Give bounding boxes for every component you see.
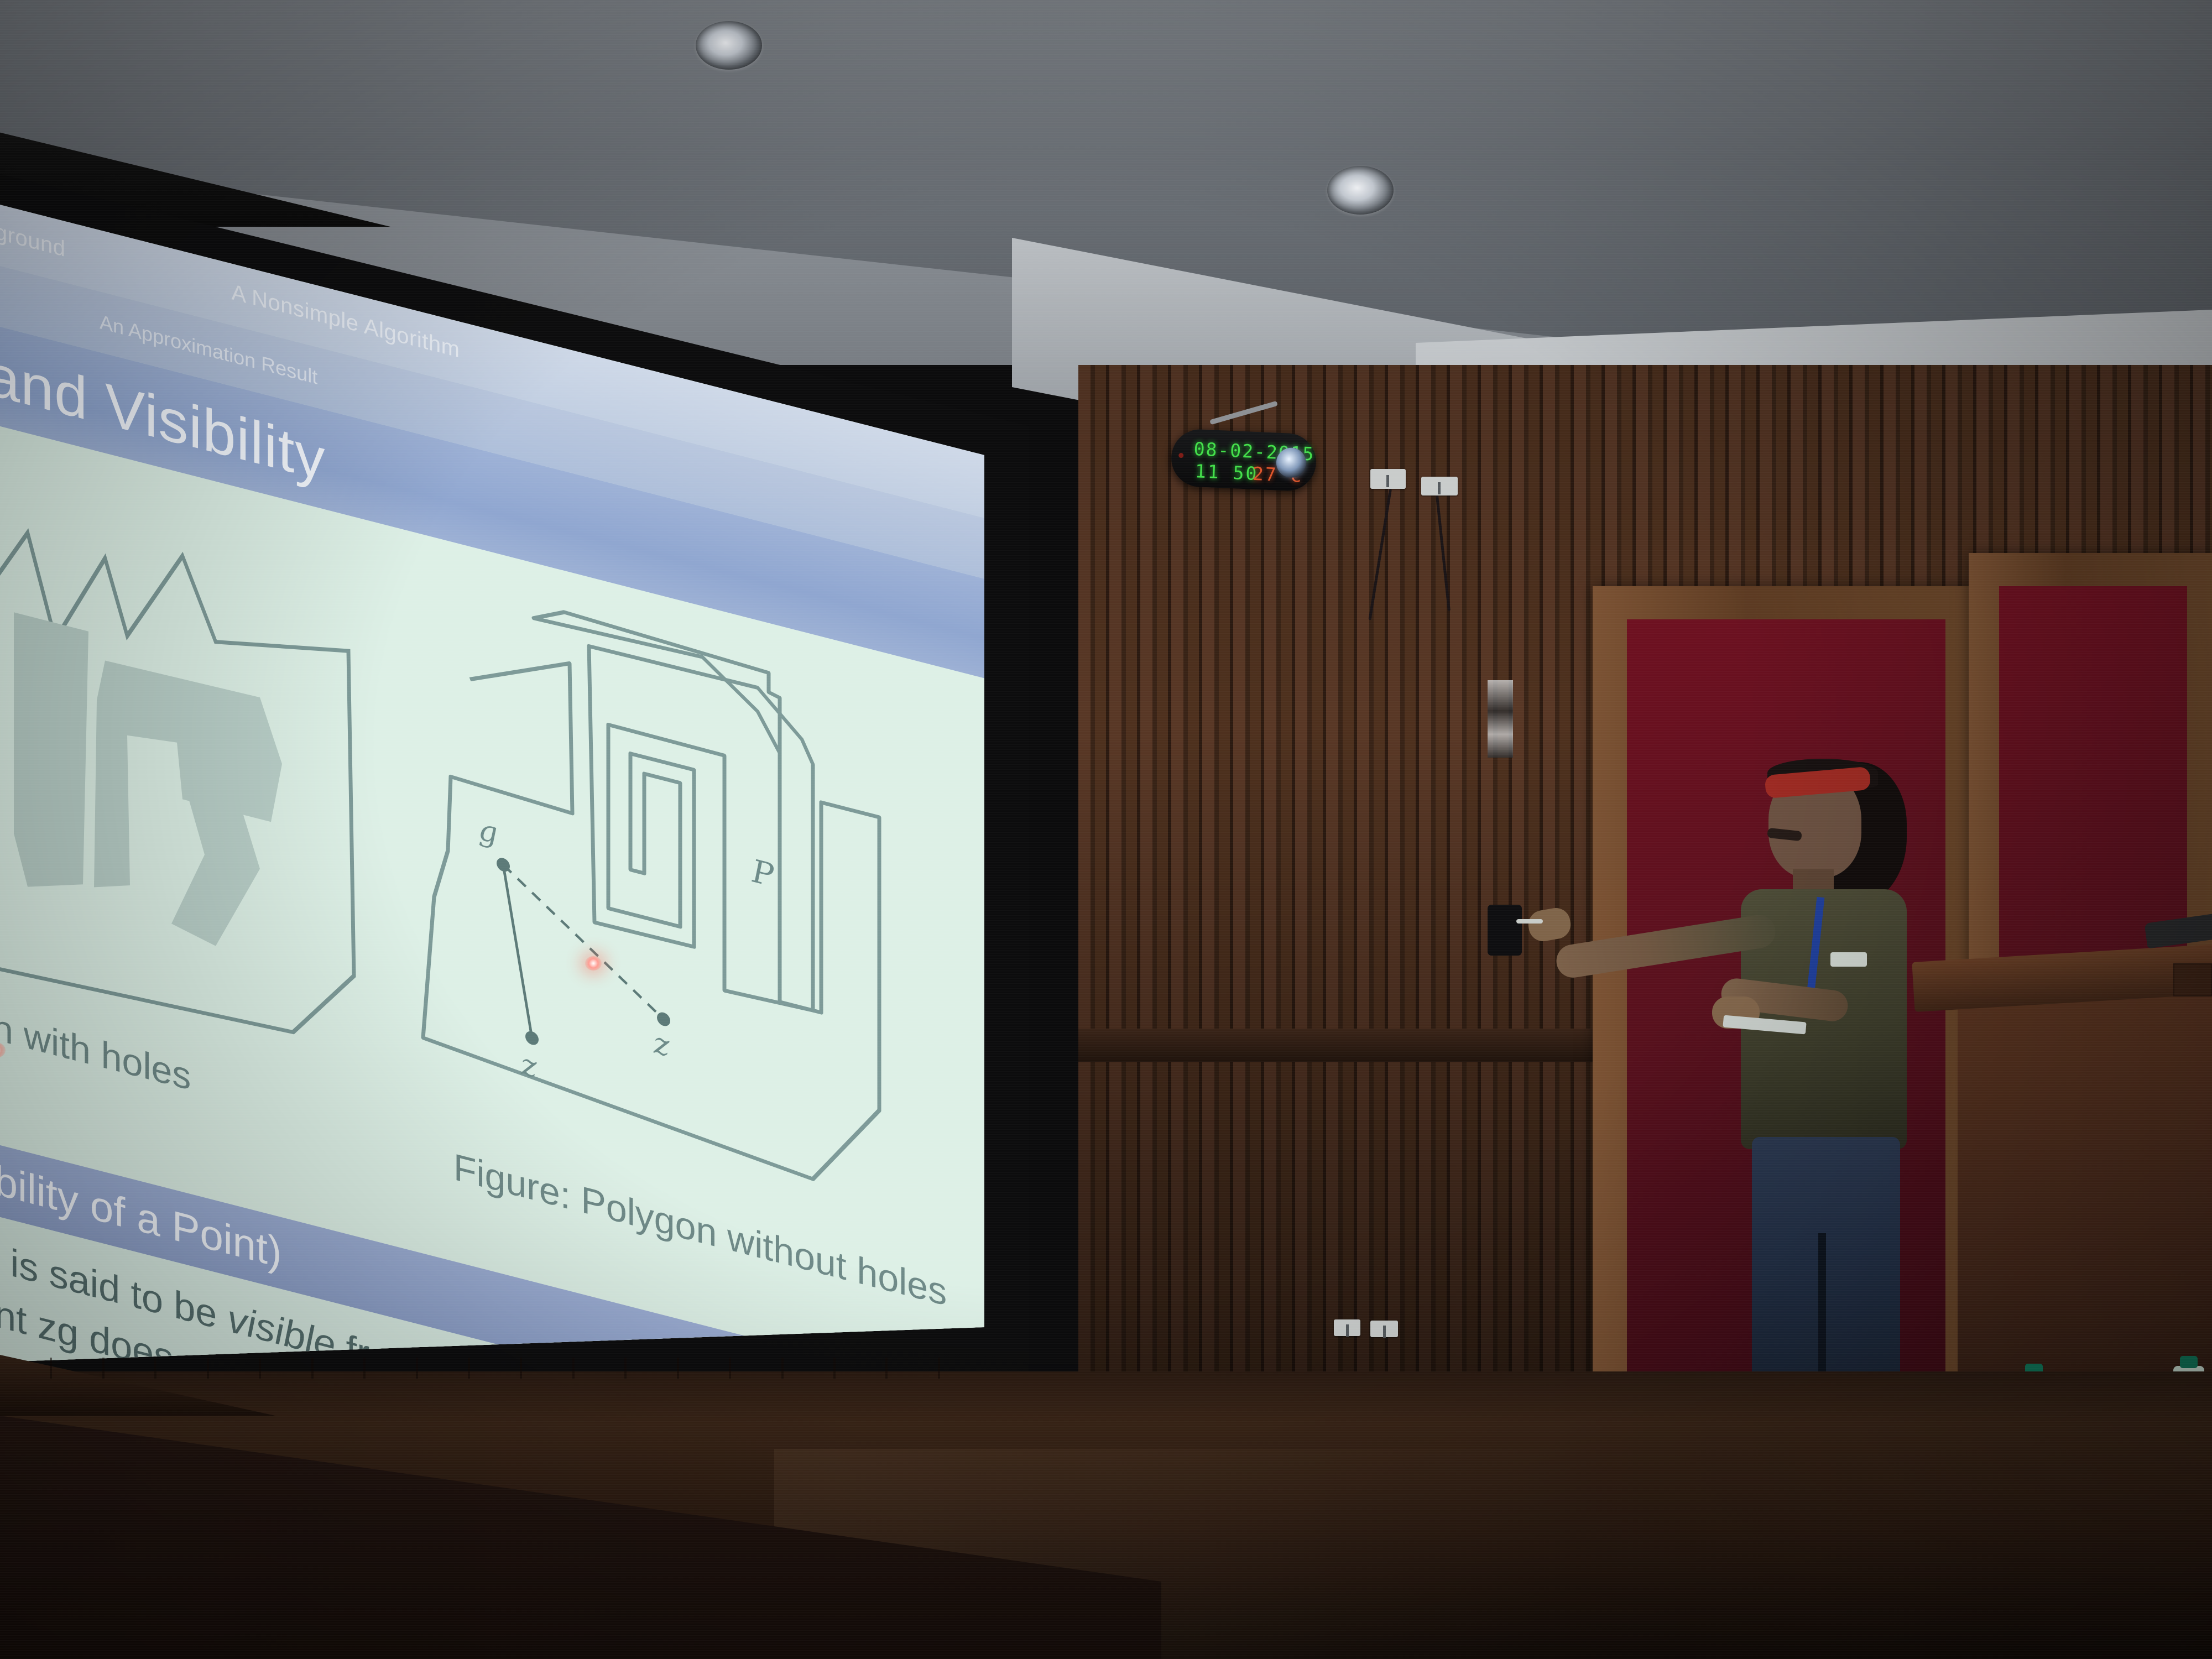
visibility-segment <box>503 865 532 1038</box>
wall-socket[interactable] <box>1370 1321 1398 1337</box>
projection-screen-surface: Background A Nonsimple Algorithm An Appr… <box>0 196 984 1363</box>
ceiling-downlight-icon <box>696 21 762 70</box>
wall-digital-clock: 08-02-2015 11 50 27 C <box>1170 428 1317 492</box>
lecture-hall-scene: 08-02-2015 11 50 27 C Background A Nonsi… <box>0 0 2212 1659</box>
podium-panel-inset <box>2173 963 2212 997</box>
beamer-slide: Background A Nonsimple Algorithm An Appr… <box>0 196 984 1363</box>
figure-polygon-without-holes: g z z P <box>393 544 935 1246</box>
bottle-cap <box>2180 1356 2198 1368</box>
visibility-segment-dashed <box>503 865 664 1019</box>
podium <box>1958 990 2212 1427</box>
wall-socket[interactable] <box>1421 477 1458 495</box>
wall-socket[interactable] <box>1370 469 1406 489</box>
svg-text:z: z <box>653 1025 670 1064</box>
presenter-badge <box>1830 952 1867 967</box>
laser-pointer-dot <box>585 956 602 971</box>
wall-socket[interactable] <box>1334 1319 1360 1336</box>
svg-text:P: P <box>752 852 774 895</box>
stage-edge-detail <box>0 1358 940 1379</box>
svg-text:z: z <box>520 1046 538 1086</box>
clock-time-display: 11 50 <box>1194 460 1259 484</box>
wall-mounted-device <box>1488 680 1513 758</box>
ceiling-downlight-icon <box>1327 166 1394 215</box>
presentation-remote-icon[interactable] <box>1488 905 1522 956</box>
svg-text:g: g <box>478 811 498 851</box>
clock-indicator-led <box>1178 453 1183 458</box>
hole-shape <box>14 612 88 902</box>
